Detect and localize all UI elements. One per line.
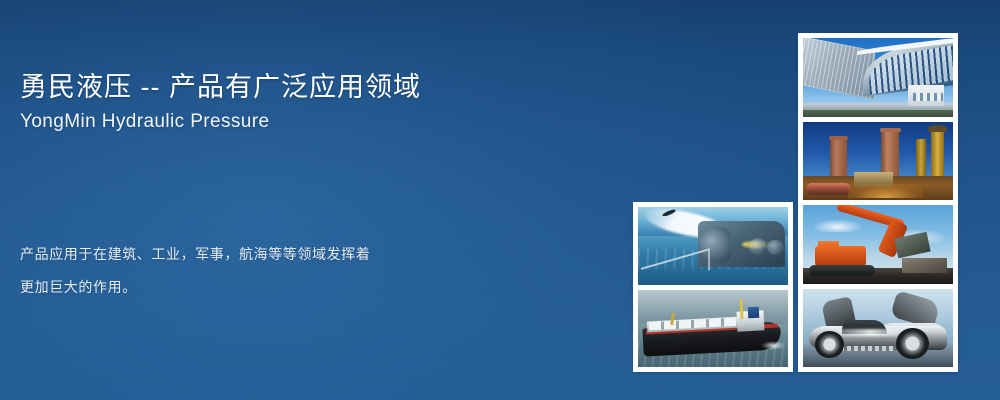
naval-gun-photo [638, 207, 788, 285]
industrial-plant-photo [803, 122, 953, 201]
banner-subheadline: YongMin Hydraulic Pressure [20, 110, 580, 134]
photo-annexe-windows [913, 93, 943, 101]
photo-chimney-right-cap [880, 128, 901, 132]
banner-text-block: 勇民液压 -- 产品有广泛应用领域 YongMin Hydraulic Pres… [20, 70, 580, 134]
concept-car-photo [803, 289, 953, 368]
cargo-ship-photo [638, 290, 788, 368]
excavator-photo [803, 205, 953, 284]
banner-description: 产品应用于在建筑、工业，军事，航海等等领域发挥着 更加巨大的作用。 [20, 238, 490, 304]
gallery-column-middle [633, 202, 793, 372]
hero-banner: 勇民液压 -- 产品有广泛应用领域 YongMin Hydraulic Pres… [0, 0, 1000, 400]
photo-excavator-body [815, 246, 866, 266]
architecture-photo [803, 38, 953, 117]
photo-bow-spray [761, 341, 785, 350]
photo-car-rear-wheel [815, 331, 844, 358]
photo-tower-head [928, 125, 948, 132]
photo-chimney-left-cap [829, 136, 849, 140]
photo-plant-tank [806, 183, 851, 196]
banner-description-line-2: 更加巨大的作用。 [20, 271, 490, 304]
photo-excavator-tracks [809, 265, 875, 275]
photo-car-front-wheel [896, 328, 929, 359]
photo-plant-glow [848, 184, 923, 198]
banner-description-line-1: 产品应用于在建筑、工业，军事，航海等等领域发挥着 [20, 238, 490, 271]
photo-ship-funnel [747, 306, 758, 317]
gallery-column-right [798, 33, 958, 372]
photo-muzzle-flash [742, 241, 772, 248]
photo-debris [902, 258, 947, 272]
banner-headline: 勇民液压 -- 产品有广泛应用领域 [20, 70, 580, 104]
photo-cloud-1 [812, 219, 863, 232]
